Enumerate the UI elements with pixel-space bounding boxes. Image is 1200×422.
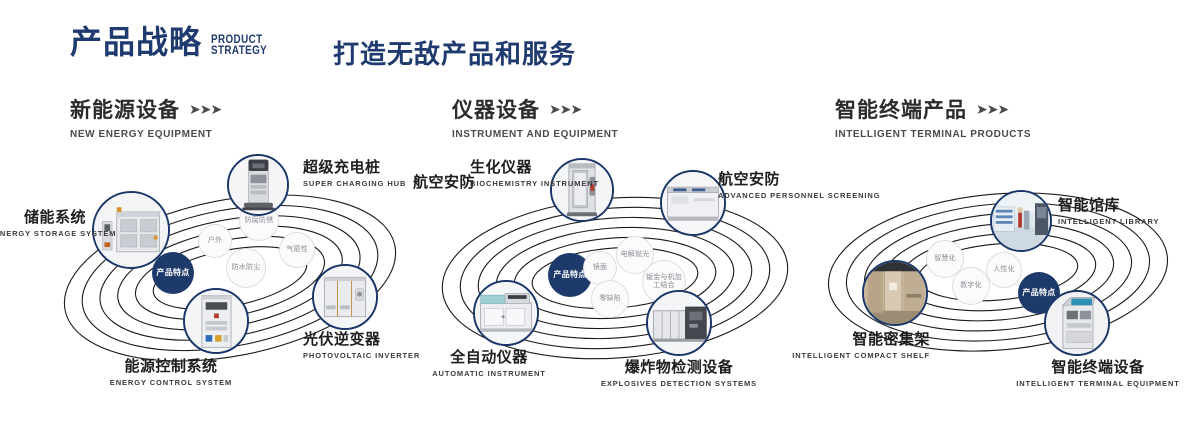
page-title-cn: 产品战略 bbox=[70, 26, 202, 58]
page-subtitle: 打造无敌产品和服务 bbox=[333, 34, 576, 71]
page-title: 产品战略 PRODUCT STRATEGY bbox=[70, 26, 279, 58]
page-title-en-line2: STRATEGY bbox=[211, 45, 267, 56]
section-title-en: INTELLIGENT TERMINAL PRODUCTS bbox=[835, 129, 1031, 140]
caption-intelligent-terminal-equipment: 智能终端设备 INTELLIGENT TERMINAL EQUIPMENT bbox=[1004, 356, 1192, 388]
feature-bubble: 气密性 bbox=[279, 232, 315, 268]
intelligent-library-artwork bbox=[992, 192, 1050, 250]
node-intelligent-compact-shelf[interactable] bbox=[862, 260, 928, 326]
charging-hub-artwork bbox=[229, 156, 287, 214]
pv-inverter-artwork bbox=[314, 266, 376, 328]
compact-shelf-artwork bbox=[864, 262, 926, 324]
energy-control-artwork bbox=[185, 290, 247, 352]
terminal-equipment-artwork bbox=[1046, 292, 1108, 354]
node-advanced-personnel-screening[interactable] bbox=[660, 170, 726, 236]
feature-bubble: 防水防尘 bbox=[226, 248, 266, 288]
caption-energy-control-system: 能源控制系统 ENERGY CONTROL SYSTEM bbox=[86, 355, 256, 387]
page-title-en: PRODUCT STRATEGY bbox=[211, 34, 267, 56]
caption-intelligent-compact-shelf: 智能密集架 INTELLIGENT COMPACT SHELF bbox=[740, 328, 930, 360]
chevron-right-icons: ➤➤➤ bbox=[549, 101, 581, 118]
cluster-new-energy: 产品特点 户外 防腐防锈 防水防尘 气密性 储能系统 EN bbox=[40, 160, 420, 390]
node-energy-control-system[interactable] bbox=[183, 288, 249, 354]
infographic-canvas: 产品战略 PRODUCT STRATEGY 打造无敌产品和服务 新能源设备➤➤➤… bbox=[0, 0, 1200, 422]
section-title-en: NEW ENERGY EQUIPMENT bbox=[70, 129, 221, 140]
section-header-new-energy: 新能源设备➤➤➤ NEW ENERGY EQUIPMENT bbox=[70, 94, 221, 140]
caption-energy-storage-system: 储能系统 ENERGY STORAGE SYSTEM bbox=[0, 206, 86, 238]
node-intelligent-terminal-equipment[interactable] bbox=[1044, 290, 1110, 356]
cluster-intelligent-terminal: 智慧化 数字化 人性化 产品特点 智能馆库 INTELLIGENT bbox=[812, 160, 1192, 390]
node-photovoltaic-inverter[interactable] bbox=[312, 264, 378, 330]
node-automatic-instrument[interactable] bbox=[473, 280, 539, 346]
caption-super-charging-hub: 超级充电桩 SUPER CHARGING HUB bbox=[303, 156, 423, 188]
explosives-detection-artwork bbox=[648, 292, 710, 354]
caption-biochemistry-instrument: 生化仪器 BIOCHEMISTRY INSTRUMENT bbox=[470, 156, 582, 188]
feature-bubble: 零缺陷 bbox=[591, 280, 629, 318]
section-title-cn: 仪器设备 bbox=[452, 94, 540, 124]
screening-artwork bbox=[662, 172, 724, 234]
feature-bubble: 户外 bbox=[198, 224, 232, 258]
caption-explosives-detection-systems: 爆炸物检测设备 EXPLOSIVES DETECTION SYSTEMS bbox=[586, 356, 772, 388]
caption-intelligent-library: 智能馆库 INTELLIGENT LIBRARY bbox=[1058, 194, 1188, 226]
chevron-right-icons: ➤➤➤ bbox=[189, 101, 221, 118]
node-super-charging-hub[interactable] bbox=[227, 154, 289, 216]
node-intelligent-library[interactable] bbox=[990, 190, 1052, 252]
automatic-instrument-artwork bbox=[475, 282, 537, 344]
section-title-en: INSTRUMENT AND EQUIPMENT bbox=[452, 129, 618, 140]
node-explosives-detection-systems[interactable] bbox=[646, 290, 712, 356]
caption-automatic-instrument: 全自动仪器 AUTOMATIC INSTRUMENT bbox=[404, 346, 574, 378]
section-title-cn: 智能终端产品 bbox=[835, 94, 967, 124]
section-title-cn: 新能源设备 bbox=[70, 94, 180, 124]
section-header-instrument: 仪器设备➤➤➤ INSTRUMENT AND EQUIPMENT bbox=[452, 94, 618, 140]
feature-bubble: 数字化 bbox=[952, 267, 990, 305]
feature-bubble: 人性化 bbox=[986, 252, 1022, 288]
chevron-right-icons: ➤➤➤ bbox=[976, 101, 1008, 118]
section-header-intelligent-terminal: 智能终端产品➤➤➤ INTELLIGENT TERMINAL PRODUCTS bbox=[835, 94, 1031, 140]
